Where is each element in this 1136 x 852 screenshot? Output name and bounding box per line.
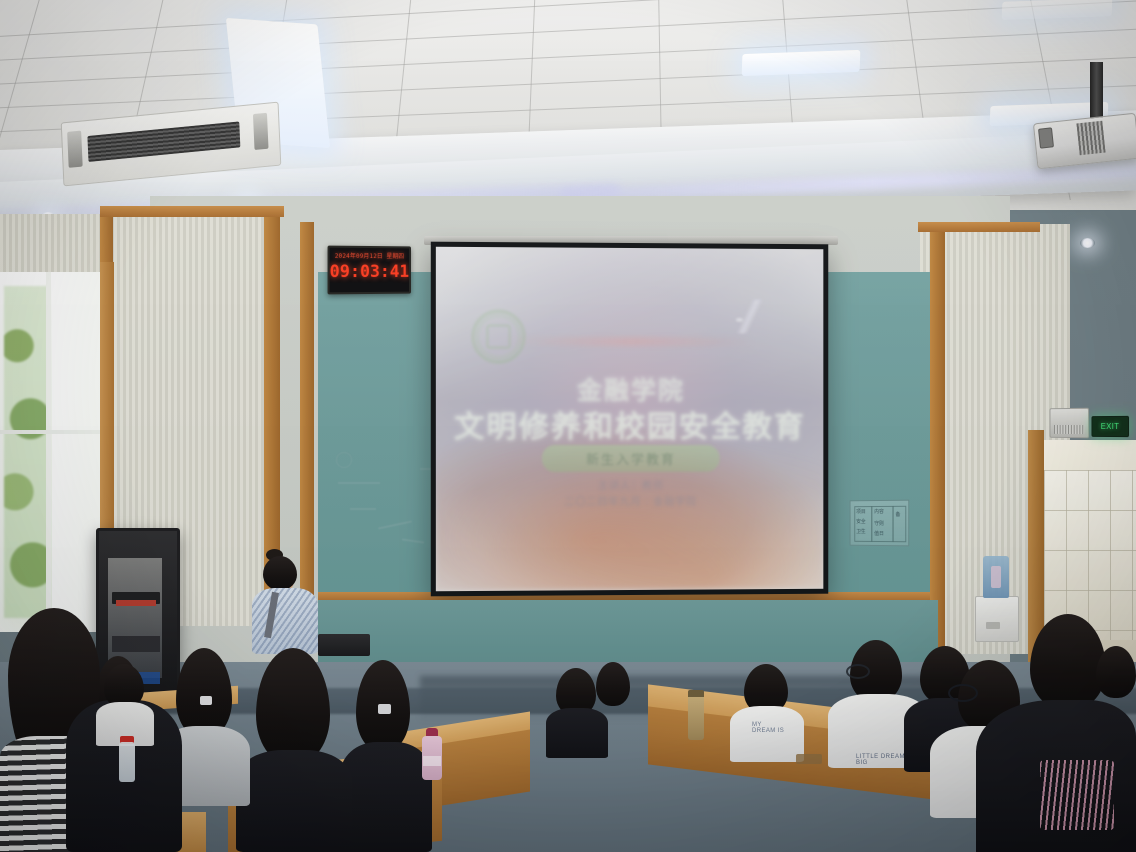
student-bouquet [1040, 760, 1114, 830]
thermos-cap [688, 690, 704, 697]
student-glasses-icon [948, 684, 978, 702]
notice-cell-text: 备 [895, 513, 900, 518]
slide-decoration-icon [722, 300, 781, 334]
student-head [596, 662, 630, 706]
student-head [1096, 646, 1136, 698]
slide-subtitle-line2: 二〇二四年九月 · 金融学院 [436, 492, 823, 508]
notice-cell-text: 安全 [856, 520, 865, 525]
slide-ribbon [506, 337, 754, 347]
notice-cell-text: 值日 [874, 532, 884, 537]
slide-subtitle-pill: 新生入学教育 [542, 445, 720, 472]
slide-title-line2: 文明修养和校园安全教育 [436, 402, 823, 446]
university-crest-icon [471, 309, 525, 363]
window-foliage [4, 286, 48, 618]
window-mullion-horizontal [0, 430, 104, 434]
notice-cell-text: 守则 [874, 522, 884, 527]
presenter-hair [263, 556, 297, 590]
notice-cell-text: 卫生 [856, 530, 865, 535]
projector-mount-pole [1090, 62, 1103, 124]
student-body [340, 742, 432, 852]
lecture-hall-photo: 项目 安全 卫生 内容 守则 值日 备 EXIT 2024年09月12日 星期四… [0, 0, 1136, 852]
wall-mounted-speaker-box [1050, 408, 1089, 438]
podium-desk [318, 634, 370, 656]
projector-vent [1076, 121, 1105, 156]
student-shirt-print: MY DREAM IS [752, 722, 786, 734]
ceiling-panel-light-2 [742, 50, 861, 76]
window-mullion-vertical [46, 272, 51, 632]
thermos-bottle [688, 694, 704, 740]
projector-lens [1038, 127, 1054, 148]
water-bottle-label [991, 566, 1001, 588]
downlight-8 [1080, 238, 1095, 248]
emergency-exit-sign: EXIT [1091, 416, 1129, 437]
student-glasses-icon [846, 664, 870, 679]
projection-screen: 金融学院 文明修养和校园安全教育 新生入学教育 主讲人：教师 二〇二四年九月 ·… [431, 242, 828, 597]
rack-device-2 [112, 636, 160, 652]
projection-screen-surface: 金融学院 文明修养和校园安全教育 新生入学教育 主讲人：教师 二〇二四年九月 ·… [436, 247, 823, 591]
corridor-window-grid [1044, 470, 1136, 640]
led-clock-time: 09:03:41 [330, 262, 410, 282]
hair-clip-icon [378, 704, 391, 714]
water-bottle-clear [119, 742, 135, 782]
exit-sign-label: EXIT [1101, 422, 1120, 431]
wood-trim-top-right [918, 222, 1040, 232]
student-body [730, 706, 804, 762]
wall-notice-board: 项目 安全 卫生 内容 守则 值日 备 [850, 500, 910, 547]
led-clock-date: 2024年09月12日 星期四 [330, 251, 410, 260]
notice-cell-text: 内容 [874, 510, 884, 515]
wood-trim-screen-left [300, 222, 314, 642]
hair-clip-icon [200, 696, 212, 705]
notice-cell-text: 项目 [856, 510, 865, 515]
slide-pill-label: 新生入学教育 [542, 445, 720, 472]
wall-panel-upper-left [0, 214, 112, 280]
water-dispenser [975, 596, 1019, 642]
rack-status-bar [116, 600, 156, 606]
bottle-label [423, 756, 441, 766]
slide-subtitle-line1: 主讲人：教师 [436, 477, 823, 493]
led-wall-clock: 2024年09月12日 星期四 09:03:41 [328, 246, 411, 295]
student-body [236, 750, 352, 852]
student-body [546, 708, 608, 758]
presenter-body [252, 588, 318, 654]
wood-trim-screen-right [930, 226, 945, 656]
desk-object [796, 754, 822, 764]
wood-trim-top-left [100, 206, 284, 217]
dispenser-tap [986, 622, 1000, 629]
